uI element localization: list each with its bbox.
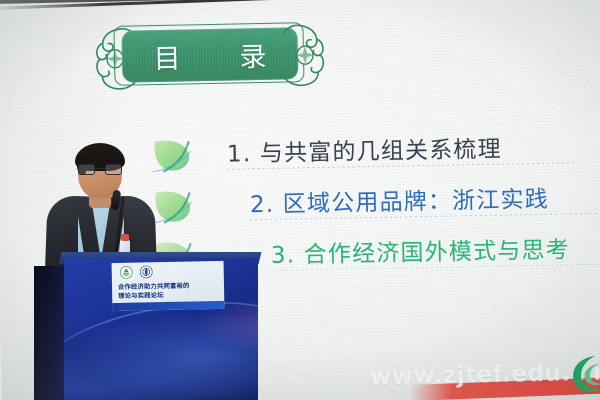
agenda-item-2: 2. 区域公用品牌：浙江实践 <box>150 179 591 235</box>
podium-sign-line-2: 理论与实践论坛 <box>118 290 222 301</box>
agenda-item-2-text: 2. 区域公用品牌：浙江实践 <box>250 180 550 219</box>
emblem-blue-icon <box>140 265 153 278</box>
lens-right <box>105 164 122 175</box>
emblem-green-icon <box>120 266 133 279</box>
bottle-cap <box>121 234 129 241</box>
eyeglasses-icon <box>77 164 123 175</box>
podium-sign: 合作经济助力共同富裕的 理论与实践论坛 <box>112 261 225 311</box>
slide-title-banner: 目 录 <box>95 20 324 94</box>
podium: 合作经济助力共同富裕的 理论与实践论坛 <box>34 258 256 400</box>
agenda-item-1: 1. 与共富的几组关系梳理 <box>149 128 590 184</box>
glasses-bridge <box>95 168 105 169</box>
agenda-item-3-text: 3. 合作经济国外模式与思考 <box>271 230 571 269</box>
agenda-item-1-text: 1. 与共富的几组关系梳理 <box>227 130 502 169</box>
slide-title-text: 目 录 <box>121 27 298 82</box>
photograph-scene: 目 录 <box>0 0 600 400</box>
lens-left <box>78 164 95 175</box>
podium-sign-text: 合作经济助力共同富裕的 理论与实践论坛 <box>118 281 222 301</box>
green-swirl-logo-icon <box>566 352 600 397</box>
podium-sign-logos <box>120 265 153 279</box>
